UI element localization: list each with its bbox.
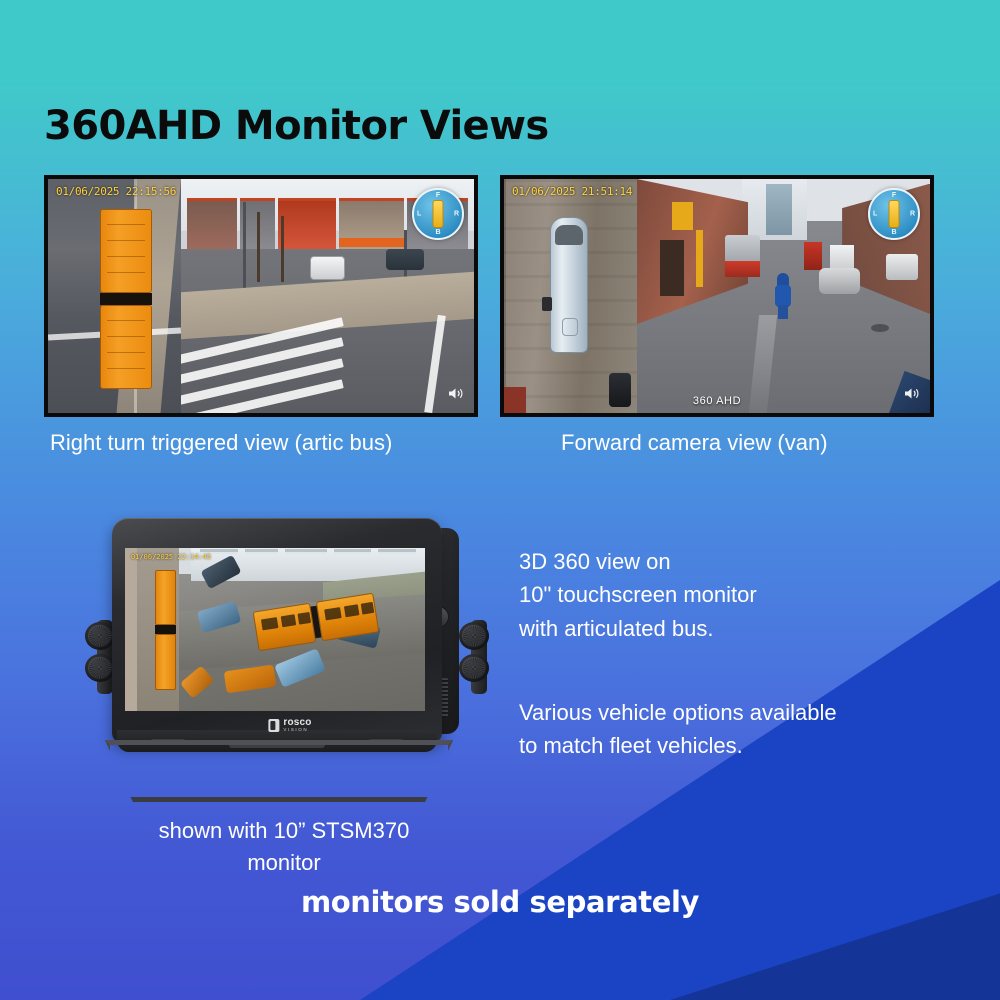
stsm370-monitor: 01/06/2025 22:14:45 rosco VISION (85, 508, 495, 808)
bracket-knob[interactable] (85, 622, 115, 650)
red-object (504, 387, 526, 413)
compass-vehicle-icon (433, 200, 444, 228)
body-line-2: 10" touchscreen monitor (519, 578, 757, 611)
orange-vehicle (224, 665, 277, 694)
panel-split-view (504, 179, 930, 413)
topdown-bus-view (48, 179, 181, 413)
pedestrian-blue-hoodie (775, 273, 791, 319)
van-mirror (542, 297, 552, 311)
building-shape (187, 198, 237, 249)
building-shape (278, 198, 337, 249)
page-title: 360AHD Monitor Views (44, 103, 549, 149)
loading-door (660, 240, 683, 296)
van-rear-hatch (562, 318, 578, 336)
compass-direction-icon: F B L R (412, 188, 464, 240)
stand-bar (105, 740, 453, 802)
compass-left-label: L (873, 211, 877, 218)
bus-rear-segment (100, 305, 152, 389)
panel-split-view (48, 179, 474, 413)
semi-truck (725, 235, 760, 277)
van-windshield (555, 225, 583, 245)
bracket-knob[interactable] (85, 654, 115, 682)
compass-back-label: B (435, 229, 440, 236)
yellow-bollard (696, 230, 703, 286)
parked-bike (609, 373, 631, 407)
yellow-sign (672, 202, 693, 230)
silver-sedan (819, 268, 860, 294)
compass-back-label: B (891, 229, 896, 236)
articulated-bus-topdown-inset (155, 570, 176, 690)
monitor-screen[interactable]: 01/06/2025 22:14:45 (125, 548, 425, 711)
van-topdown (550, 217, 588, 353)
body-line-5: to match fleet vehicles. (519, 729, 837, 762)
rosco-vision-logo: rosco VISION (268, 718, 311, 733)
panel-watermark: 360 AHD (693, 395, 741, 407)
tree-trunk (281, 216, 284, 282)
body-text-block-secondary: Various vehicle options available to mat… (519, 696, 837, 763)
dark-suv (386, 249, 424, 270)
compass-front-label: F (436, 192, 440, 199)
lane-line (424, 315, 446, 413)
bracket-knob[interactable] (459, 622, 489, 650)
body-text-block-primary: 3D 360 view on 10" touchscreen monitor w… (519, 545, 757, 645)
body-line-4: Various vehicle options available (519, 696, 837, 729)
articulated-bus-topdown (100, 209, 152, 389)
road-center (749, 315, 777, 413)
monitor-caption: shown with 10” STSM370 monitor (84, 815, 484, 879)
tree-trunk (257, 212, 260, 282)
speaker-icon[interactable] (448, 387, 464, 405)
body-line-3: with articulated bus. (519, 612, 757, 645)
white-suv (310, 256, 345, 279)
bus-front-segment (100, 209, 152, 293)
inset-bus-rear (155, 634, 176, 690)
rosco-mark-icon (268, 719, 279, 732)
compass-direction-icon: F B L R (868, 188, 920, 240)
monitor-screen-timestamp: 01/06/2025 22:14:45 (131, 553, 211, 561)
panel-timestamp: 01/06/2025 22:15:56 (56, 185, 176, 198)
white-pickup (886, 254, 918, 280)
panel-caption-right-turn: Right turn triggered view (artic bus) (50, 430, 392, 456)
panel-caption-forward-camera: Forward camera view (van) (561, 430, 828, 456)
body-line-1: 3D 360 view on (519, 545, 757, 578)
panel-timestamp: 01/06/2025 21:51:14 (512, 185, 632, 198)
compass-front-label: F (892, 192, 896, 199)
bus-articulation-joint (100, 293, 152, 305)
disclaimer-text: monitors sold separately (0, 885, 1000, 919)
compass-right-label: R (910, 211, 915, 218)
highrise-building (766, 184, 792, 235)
video-panel-forward-camera[interactable]: 01/06/2025 21:51:14 F B L R 360 AHD (500, 175, 934, 417)
monitor-caption-line-1: shown with 10” STSM370 (84, 815, 484, 847)
brand-subtitle: VISION (283, 728, 311, 733)
manhole-cover (871, 324, 889, 332)
topdown-van-view (504, 179, 637, 413)
pavement-seam (504, 179, 506, 413)
inset-bus-front (155, 570, 176, 625)
monitor-caption-line-2: monitor (84, 847, 484, 879)
storefront-awning (339, 238, 403, 247)
compass-left-label: L (417, 211, 421, 218)
3d-360-bowl-view (125, 548, 425, 711)
speaker-icon[interactable] (904, 387, 920, 405)
inset-bus-joint (155, 625, 176, 634)
compass-right-label: R (454, 211, 459, 218)
compass-vehicle-icon (889, 200, 900, 228)
mounting-bracket-right[interactable] (459, 620, 493, 694)
red-truck (804, 242, 822, 270)
orange-vehicle (180, 665, 214, 698)
crosswalk-stripes (181, 329, 345, 409)
monitor-stand (105, 740, 453, 802)
bracket-knob[interactable] (459, 654, 489, 682)
video-panel-right-turn[interactable]: 01/06/2025 22:15:56 F B L R (44, 175, 478, 417)
